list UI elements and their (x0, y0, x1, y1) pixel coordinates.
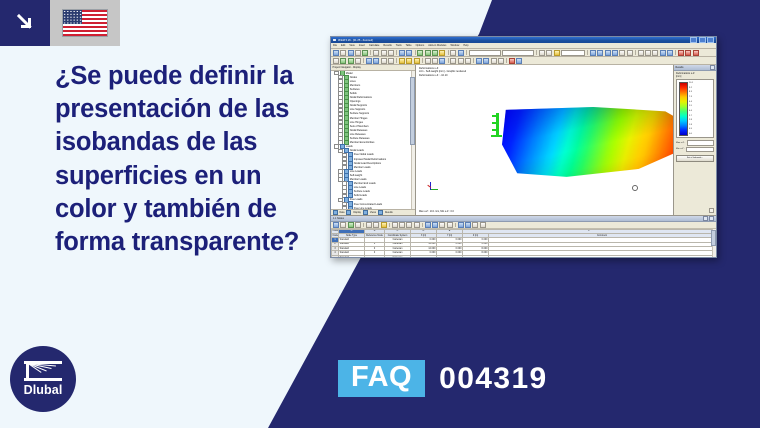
pan-icon[interactable] (439, 50, 445, 56)
menu-item-edit[interactable]: Edit (341, 44, 345, 47)
node-marker (632, 185, 638, 191)
minimize-button[interactable] (690, 37, 697, 43)
menu-item-calculate[interactable]: Calculate (369, 44, 379, 47)
open-file-icon[interactable] (340, 50, 346, 56)
tree-item-label: Member Loads (354, 166, 371, 169)
menu-item-table[interactable]: Table (406, 44, 412, 47)
table-new-icon[interactable] (333, 222, 339, 228)
surface-load-icon[interactable] (414, 58, 420, 64)
mesh-icon[interactable] (425, 58, 431, 64)
tree-item-label: Line Releases (350, 133, 366, 136)
snap-icon[interactable] (627, 50, 633, 56)
table-icon[interactable] (450, 58, 456, 64)
panel-resize-handle[interactable] (709, 208, 715, 214)
section-icon[interactable] (652, 50, 658, 56)
tree-item-label: Free Nodal Loads (354, 153, 374, 156)
opening-icon[interactable] (381, 58, 387, 64)
view-front-icon[interactable] (590, 50, 596, 56)
app-icon (333, 39, 336, 42)
table-settings-icon[interactable] (458, 222, 464, 228)
line-icon[interactable] (348, 58, 354, 64)
navigator-tab-results[interactable]: Results (385, 212, 393, 214)
tree-item-label: Line Hinges (350, 121, 363, 124)
table-cell[interactable]: Cartesian (385, 255, 411, 258)
info-icon[interactable] (685, 50, 691, 56)
display-combo[interactable] (561, 50, 585, 56)
table-cell[interactable]: 0.000 (437, 255, 463, 258)
view-top-icon[interactable] (605, 50, 611, 56)
tables-panel[interactable]: 1.1 Nodes (331, 215, 716, 258)
headline-line: color y también de (55, 193, 317, 226)
view-side-icon[interactable] (597, 50, 603, 56)
scale-tick-label: 9.2 (689, 87, 712, 89)
page-title: ¿Se puede definir la presentación de las… (55, 60, 317, 259)
navigator-title: Project Navigator - Display (333, 66, 361, 69)
calculate-icon[interactable] (554, 50, 560, 56)
headline-line: forma transparente? (55, 226, 317, 259)
min-label: Min u-Z : (676, 148, 685, 150)
scale-tick-label: 10.1 (689, 82, 712, 84)
table-cell[interactable]: 0 (365, 255, 385, 258)
table-refresh-icon[interactable] (480, 222, 486, 228)
tab-icon-display (346, 210, 351, 215)
tab-icon-results (378, 210, 383, 215)
project-navigator[interactable]: Project Navigator - Display ModelNodesLi… (331, 65, 416, 215)
scale-tick-label: 5.5 (689, 105, 712, 107)
measure-icon[interactable] (638, 50, 644, 56)
table-sort-icon[interactable] (447, 222, 453, 228)
topleft-badges (0, 0, 120, 46)
color-scale: 10.19.28.37.36.45.54.63.72.81.80.90.0 (676, 79, 714, 138)
scale-tick-label: 4.6 (689, 110, 712, 112)
print-icon[interactable] (355, 50, 361, 56)
help-icon[interactable] (678, 50, 684, 56)
toolbar-row-2[interactable] (331, 57, 716, 65)
results-panel-title: Results (676, 66, 684, 69)
menu-item-addon-modules[interactable]: Add-on Modules (428, 44, 446, 47)
support-icon[interactable] (388, 58, 394, 64)
menu-item-view[interactable]: View (349, 44, 354, 47)
tables-window-controls[interactable] (703, 216, 715, 221)
solid-icon[interactable] (373, 58, 379, 64)
table-save-icon[interactable] (348, 222, 354, 228)
member-icon[interactable] (355, 58, 361, 64)
table-cell[interactable] (489, 255, 716, 258)
menu-item-results[interactable]: Results (383, 44, 391, 47)
line-load-icon[interactable] (406, 58, 412, 64)
navigator-tab-display[interactable]: Display (353, 212, 361, 214)
max-label: Max u-Z : (676, 142, 685, 144)
nodes-table[interactable]: Node No.ABCDEFNode No.Node TypeReference… (331, 229, 716, 259)
isoband-icon[interactable] (546, 50, 552, 56)
tree-item-label: Solid Loads (354, 194, 367, 197)
headline-line: superficies en un (55, 160, 317, 193)
tree-item-label: Member End Loads (354, 182, 376, 185)
zoom-out-icon[interactable] (425, 50, 431, 56)
dlubal-logo[interactable]: Dlubal (10, 346, 76, 412)
scale-tick-label: 2.8 (689, 119, 712, 121)
result-type-select[interactable] (502, 50, 534, 56)
visibility-icon[interactable] (667, 50, 673, 56)
navigator-scroll-thumb[interactable] (410, 77, 414, 145)
viewport-footer: Max u-Z : 10.1 mm, Min u-Z : 0.0 (419, 210, 454, 213)
tree-item-label: Member Hinges (350, 117, 368, 120)
headline-line: isobandas de las (55, 126, 317, 159)
color-scale-labels: 10.19.28.37.36.45.54.63.72.81.80.90.0 (689, 82, 712, 136)
results-panel-close-icon[interactable] (710, 65, 715, 70)
tree-item-label: Sets of Members (350, 125, 369, 128)
tree-item-label: Nodal Load Descriptions (354, 162, 381, 165)
table-delete-row-icon[interactable] (432, 222, 438, 228)
arrow-down-right-badge[interactable] (0, 0, 50, 46)
scale-tick-label: 3.7 (689, 115, 712, 117)
tab-icon-data (333, 210, 338, 215)
copy-icon[interactable] (381, 50, 387, 56)
table-insert-row-icon[interactable] (425, 222, 431, 228)
tree-item-label: Free Line Loads (354, 207, 372, 209)
tables-minimize-icon[interactable] (703, 216, 708, 221)
tree-item-label: Line Loads (354, 186, 366, 189)
faq-tag: FAQ (338, 360, 425, 397)
faq-number: 004319 (439, 364, 548, 394)
table-units-icon[interactable] (472, 222, 478, 228)
undo-icon[interactable] (399, 50, 405, 56)
truss-bridge-icon (24, 361, 62, 381)
isoband-surface-shading (502, 107, 674, 179)
headline-line: ¿Se puede definir la (55, 60, 317, 93)
viewport-info: Deformations u-Z LC1 - Self-weight [mm] … (419, 67, 466, 77)
table-cell[interactable]: 5 (332, 255, 339, 258)
grid-icon[interactable] (619, 50, 625, 56)
slide-canvas: ¿Se puede definir la presentación de las… (0, 0, 760, 428)
menu-item-file[interactable]: File (333, 44, 337, 47)
table-paste-icon[interactable] (381, 222, 387, 228)
printout-icon[interactable] (458, 58, 464, 64)
select-icon[interactable] (333, 58, 339, 64)
tree-item-label: Surface Loads (354, 190, 370, 193)
cut-icon[interactable] (373, 50, 379, 56)
zoom-in-icon[interactable] (417, 50, 423, 56)
grid-scroll-thumb[interactable] (711, 230, 715, 246)
menu-item-options[interactable]: Options (416, 44, 425, 47)
logo-text: Dlubal (24, 383, 63, 397)
tree-item-label: Self-weight (350, 174, 362, 177)
tree-item-label: Solids (350, 92, 357, 95)
table-cell[interactable]: -2.500 (463, 255, 489, 258)
menu-item-window[interactable]: Window (450, 44, 459, 47)
print-preview-icon[interactable] (362, 50, 368, 56)
deformation-icon[interactable] (439, 58, 445, 64)
navigator-tab-views[interactable]: Views (370, 212, 376, 214)
table-cell[interactable]: Standard (339, 255, 365, 258)
node-icon[interactable] (340, 58, 346, 64)
color-gradient-bar (679, 82, 688, 136)
rotate-icon[interactable] (450, 50, 456, 56)
tree-item-label: Line Loads (350, 170, 362, 173)
coordinate-axes-icon (426, 179, 440, 193)
application-window[interactable]: RFEM 5.26 - [01.rf5 - Zoomed] File Edit … (330, 36, 717, 258)
new-file-icon[interactable] (333, 50, 339, 56)
results-panel-subtitle: Deformations u-Z [mm] (674, 71, 716, 78)
navigator-tree[interactable]: ModelNodesLinesMembersSurfacesSolidsNoda… (331, 71, 415, 209)
tree-item-icon (348, 206, 353, 209)
language-flag-badge[interactable] (50, 0, 120, 46)
save-icon[interactable] (348, 50, 354, 56)
surface-icon[interactable] (366, 58, 372, 64)
fe-mesh-icon[interactable] (432, 58, 438, 64)
guideline-icon[interactable] (483, 58, 489, 64)
arrow-down-right-icon (14, 12, 36, 34)
results-on-off-icon[interactable] (539, 50, 545, 56)
tables-grid[interactable]: Node No.ABCDEFNode No.Node TypeReference… (331, 229, 716, 259)
table-print-icon[interactable] (355, 222, 361, 228)
tab-icon-views (363, 210, 368, 215)
coordinate-system-icon[interactable] (491, 58, 497, 64)
table-copy-icon[interactable] (373, 222, 379, 228)
faq-banner: FAQ 004319 (338, 360, 548, 397)
table-row[interactable]: 5Standard0Cartesian0.0000.000-2.500 (332, 255, 716, 258)
tree-expander-icon[interactable] (342, 206, 347, 209)
tree-item-label: Imposed Nodal Deformations (354, 158, 386, 161)
tables-close-icon[interactable] (709, 216, 714, 221)
clipping-icon[interactable] (660, 50, 666, 56)
viewport-info-line: Deformations u-Z : -10.10 (419, 74, 466, 77)
export-icon[interactable] (465, 58, 471, 64)
display-properties-icon[interactable] (516, 58, 522, 64)
max-row: Max u-Z : (676, 140, 714, 145)
navigator-scrollbar[interactable] (411, 71, 415, 209)
scale-tick-label: 1.8 (689, 124, 712, 126)
dimension-icon[interactable] (645, 50, 651, 56)
scale-tick-label: 0.0 (689, 133, 712, 135)
tables-title: 1.1 Nodes (333, 217, 344, 220)
table-prev-row-icon[interactable] (399, 222, 405, 228)
table-cell[interactable]: 0.000 (411, 255, 437, 258)
tree-item-label: Members (350, 84, 360, 87)
tree-item-label: Nodal Supports (350, 104, 367, 107)
tree-item-label: Nodes (350, 76, 357, 79)
grid-scrollbar[interactable] (712, 229, 716, 259)
load-case-select[interactable] (469, 50, 501, 56)
min-value (686, 147, 714, 152)
tree-item-label: Openings (350, 100, 361, 103)
results-subtitle-line: [mm] (676, 75, 714, 78)
tree-item-label: Surfaces (350, 88, 360, 91)
close-button[interactable] (707, 37, 714, 43)
navigator-tabs[interactable]: Data Display Views Results (331, 209, 415, 215)
scale-tick-label: 7.3 (689, 96, 712, 98)
settings-icon[interactable] (509, 58, 515, 64)
navigator-tab-data[interactable]: Data (340, 212, 345, 214)
app-main-area: Project Navigator - Display ModelNodesLi… (331, 65, 716, 215)
table-filter-icon[interactable] (439, 222, 445, 228)
set-of-isobands-button[interactable]: Set of Isobands... (676, 155, 714, 162)
tree-item-label: Lines (350, 80, 356, 83)
zoom-window-icon[interactable] (432, 50, 438, 56)
menu-item-help[interactable]: Help (463, 44, 468, 47)
view-iso-icon[interactable] (612, 50, 618, 56)
table-next-row-icon[interactable] (406, 222, 412, 228)
tree-item-label: Member Eccentricities (350, 141, 375, 144)
table-cut-icon[interactable] (366, 222, 372, 228)
toolbar-row-1[interactable] (331, 49, 716, 57)
tree-item-label: Nodal Releases (350, 129, 368, 132)
table-open-icon[interactable] (340, 222, 346, 228)
tree-item-label: Surface Supports (350, 112, 369, 115)
scale-tick-label: 8.3 (689, 91, 712, 93)
table-export-icon[interactable] (465, 222, 471, 228)
scale-tick-label: 0.9 (689, 128, 712, 130)
usa-flag-icon (63, 10, 107, 36)
results-extrema: Max u-Z : Min u-Z : (676, 140, 714, 153)
table-first-row-icon[interactable] (392, 222, 398, 228)
redo-icon[interactable] (406, 50, 412, 56)
table-last-row-icon[interactable] (414, 222, 420, 228)
menu-item-insert[interactable]: Insert (359, 44, 365, 47)
paste-icon[interactable] (388, 50, 394, 56)
render-icon[interactable] (458, 50, 464, 56)
nodal-load-icon[interactable] (399, 58, 405, 64)
max-value (687, 140, 714, 145)
window-controls[interactable] (690, 37, 714, 43)
headline-line: presentación de las (55, 93, 317, 126)
maximize-button[interactable] (699, 37, 706, 43)
tree-item-label: Surface Releases (350, 137, 370, 140)
app-title-text: RFEM 5.26 - [01.rf5 - Zoomed] (338, 39, 373, 42)
tree-item-label: Free Concentrated Loads (354, 203, 382, 206)
results-panel[interactable]: Results Deformations u-Z [mm] 10.19.28.3… (674, 65, 716, 215)
render-viewport[interactable]: Deformations u-Z LC1 - Self-weight [mm] … (416, 65, 674, 215)
tree-item-label: Nodal Deformations (350, 96, 372, 99)
tree-item-label: Line Supports (350, 108, 365, 111)
scale-tick-label: 6.4 (689, 101, 712, 103)
menu-item-tools[interactable]: Tools (396, 44, 402, 47)
tree-item[interactable]: Free Line Loads (331, 206, 415, 209)
layers-icon[interactable] (476, 58, 482, 64)
min-row: Min u-Z : (676, 147, 714, 152)
about-icon[interactable] (693, 50, 699, 56)
work-plane-icon[interactable] (498, 58, 504, 64)
